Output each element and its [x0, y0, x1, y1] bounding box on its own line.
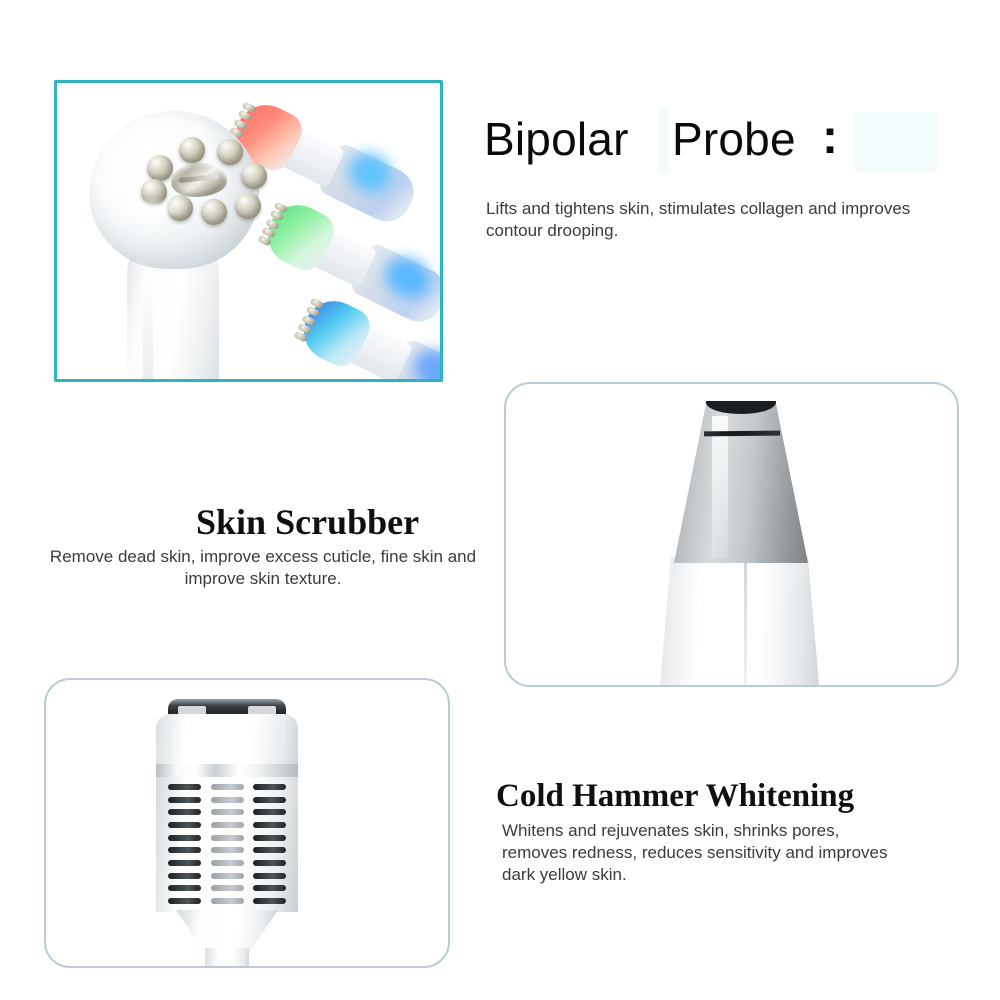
skin-scrubber-title: Skin Scrubber — [196, 501, 419, 543]
hammer-taper — [176, 910, 278, 952]
electrode-ball — [241, 163, 267, 189]
cold-hammer-description: Whitens and rejuvenates skin, shrinks po… — [502, 820, 902, 885]
hammer-shoulder — [156, 714, 298, 766]
infographic-page: Bipolar Probe : Lifts and tightens skin,… — [0, 0, 1000, 1000]
electrode-ball — [167, 195, 193, 221]
skin-scrubber-image-panel — [504, 382, 959, 687]
bipolar-probe-title-word-1: Bipolar — [484, 112, 629, 166]
electrode-ball — [217, 139, 243, 165]
hammer-stem — [205, 948, 249, 968]
probe-center-plate — [171, 163, 227, 197]
bipolar-probe-title-colon: : — [822, 110, 838, 165]
background-tint-block — [659, 108, 668, 174]
bipolar-probe-photo — [57, 83, 440, 379]
hammer-vent-column — [211, 784, 244, 904]
scrubber-blade-highlight — [712, 416, 728, 558]
electrode-ball — [179, 137, 205, 163]
skin-scrubber-photo — [506, 384, 957, 685]
background-tint-block — [855, 112, 937, 172]
electrode-ball — [235, 193, 261, 219]
hammer-vent-column — [253, 784, 286, 904]
electrode-ball — [147, 155, 173, 181]
scrubber-metal-blade — [674, 403, 808, 563]
bipolar-probe-title-word-2: Probe — [672, 112, 796, 166]
bipolar-probe-image-panel — [54, 80, 443, 382]
skin-scrubber-description: Remove dead skin, improve excess cuticle… — [48, 546, 478, 590]
scrubber-blade-band — [704, 431, 780, 437]
cold-hammer-title: Cold Hammer Whitening — [496, 778, 854, 815]
led-wand-green-icon — [259, 198, 441, 324]
hammer-vent-grid — [168, 784, 286, 904]
bipolar-probe-description: Lifts and tightens skin, stimulates coll… — [486, 198, 956, 242]
probe-head — [89, 111, 259, 269]
scrubber-white-body — [658, 557, 821, 687]
hammer-vent-column — [168, 784, 201, 904]
electrode-ball — [141, 179, 167, 205]
cold-hammer-photo — [46, 680, 448, 966]
cold-hammer-image-panel — [44, 678, 450, 968]
electrode-ball — [201, 199, 227, 225]
hammer-chrome-ring — [156, 764, 298, 777]
